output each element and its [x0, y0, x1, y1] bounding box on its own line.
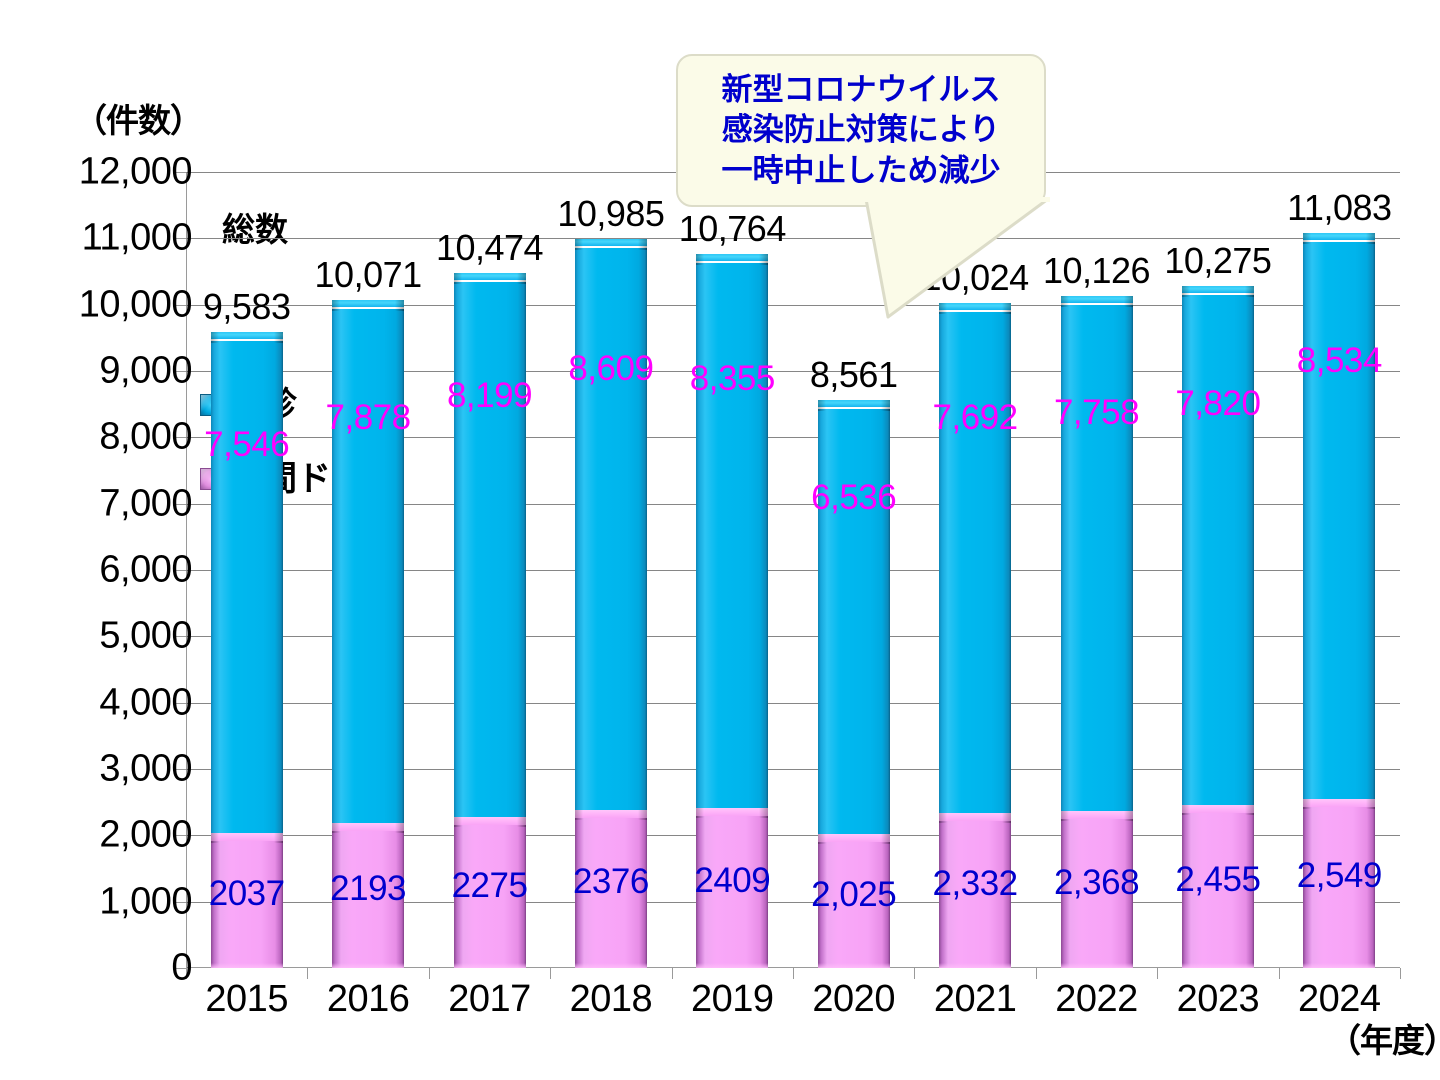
y-axis-tick-label: 1,000	[99, 880, 192, 923]
bar-total-label: 10,126	[1043, 250, 1150, 292]
covid-annotation-line-2: 感染防止対策により	[722, 111, 1000, 149]
bar-cap-shade	[454, 817, 526, 827]
x-tick-mark	[1400, 968, 1401, 979]
bar-dock-label: 2376	[573, 862, 649, 902]
bar-total-label: 10,474	[436, 227, 543, 269]
bar-foot	[818, 963, 890, 968]
x-tick-mark	[429, 968, 430, 979]
bar-kenshin-label: 7,820	[1175, 384, 1260, 424]
bar-segment-kenshin[interactable]	[1182, 286, 1254, 805]
bar-segment-kenshin[interactable]	[818, 400, 890, 834]
y-axis-tick-label: 9,000	[99, 350, 192, 393]
x-tick-mark	[307, 968, 308, 979]
bar-cap-shade	[1303, 233, 1375, 244]
bar-dock-label: 2409	[694, 861, 770, 901]
bar-kenshin-label: 8,609	[568, 349, 653, 389]
y-axis-tick-label: 4,000	[99, 681, 192, 724]
bar-foot	[1061, 963, 1133, 968]
bar-foot	[1182, 963, 1254, 968]
bar-segment-kenshin[interactable]	[696, 254, 768, 808]
bar-cap-shade	[1182, 286, 1254, 297]
gridline	[186, 238, 1400, 239]
bar-dock-label: 2,332	[933, 864, 1018, 904]
bar-foot	[939, 963, 1011, 968]
bar-dock-label: 2275	[452, 866, 528, 906]
bar-cap-shade	[575, 239, 647, 250]
x-axis-tick-label: 2022	[1055, 978, 1138, 1021]
bar-kenshin-label: 8,199	[447, 376, 532, 416]
bar-cap-shade	[696, 808, 768, 818]
bar-kenshin-label: 7,546	[204, 425, 289, 465]
bar-kenshin-label: 8,534	[1297, 341, 1382, 381]
bar-segment-kenshin[interactable]	[332, 300, 404, 823]
bar-kenshin-label: 7,878	[326, 398, 411, 438]
bar-segment-kenshin[interactable]	[211, 332, 283, 833]
x-axis-tick-label: 2020	[812, 978, 895, 1021]
bar-cap-shade	[211, 833, 283, 843]
x-axis-tick-label: 2017	[448, 978, 531, 1021]
y-axis-tick-label: 8,000	[99, 416, 192, 459]
bar-kenshin-label: 7,692	[933, 398, 1018, 438]
covid-annotation-box[interactable]: 新型コロナウイルス 感染防止対策により 一時中止しため減少	[676, 54, 1046, 207]
x-axis-tick-label: 2015	[205, 978, 288, 1021]
bar-dock-label: 2,025	[811, 875, 896, 915]
x-tick-mark	[672, 968, 673, 979]
bar-total-label: 10,275	[1164, 240, 1271, 282]
covid-annotation-line-3: 一時中止しため減少	[722, 152, 1001, 190]
bar-foot	[211, 963, 283, 968]
x-tick-mark	[1036, 968, 1037, 979]
bar-foot	[332, 963, 404, 968]
y-axis-tick-label: 7,000	[99, 482, 192, 525]
bar-cap-shade	[332, 300, 404, 311]
bar-foot	[1303, 963, 1375, 968]
y-axis-unit-label: （件数）	[74, 94, 202, 142]
bar-dock-label: 2,455	[1175, 860, 1260, 900]
x-tick-mark	[1279, 968, 1280, 979]
bar-kenshin-label: 8,355	[690, 359, 775, 399]
bar-cap-shade	[939, 813, 1011, 823]
bar-cap-shade	[696, 254, 768, 265]
bar-cap-shade	[1303, 799, 1375, 809]
bar-segment-kenshin[interactable]	[1061, 296, 1133, 811]
bar-cap-shade	[818, 834, 890, 844]
x-axis-tick-label: 2021	[934, 978, 1017, 1021]
bar-cap-shade	[1182, 805, 1254, 815]
bar-kenshin-label: 7,758	[1054, 393, 1139, 433]
bar-cap-shade	[575, 810, 647, 820]
x-tick-mark	[914, 968, 915, 979]
x-axis-tick-label: 2018	[570, 978, 653, 1021]
bar-total-label: 11,083	[1287, 187, 1391, 229]
x-tick-mark	[550, 968, 551, 979]
bar-cap-shade	[1061, 296, 1133, 307]
chart-root: （件数） （年度） 総数 健診人間ドック 01,0002,0003,0004,0…	[0, 0, 1440, 1080]
y-axis-tick-label: 10,000	[79, 283, 192, 326]
y-axis-tick-label: 3,000	[99, 748, 192, 791]
bar-dock-label: 2,368	[1054, 863, 1139, 903]
y-axis-tick-label: 2,000	[99, 814, 192, 857]
bar-total-label: 10,071	[315, 254, 422, 296]
y-axis-tick-label: 12,000	[79, 151, 192, 194]
bar-cap-shade	[332, 823, 404, 833]
y-axis-tick-label: 6,000	[99, 549, 192, 592]
bar-cap-shade	[1061, 811, 1133, 821]
bar-foot	[696, 963, 768, 968]
x-axis-tick-label: 2023	[1177, 978, 1260, 1021]
bar-segment-kenshin[interactable]	[575, 239, 647, 810]
bar-cap-shade	[939, 303, 1011, 314]
bar-segment-kenshin[interactable]	[1303, 233, 1375, 799]
bar-cap-shade	[211, 332, 283, 343]
y-axis-tick-label: 11,000	[82, 217, 192, 260]
bar-kenshin-label: 6,536	[811, 478, 896, 518]
bar-dock-label: 2037	[209, 874, 285, 914]
bar-foot	[575, 963, 647, 968]
bar-segment-kenshin[interactable]	[939, 303, 1011, 813]
x-axis-unit-label: （年度）	[1328, 1014, 1440, 1062]
x-axis-tick-label: 2016	[327, 978, 410, 1021]
bar-dock-label: 2,549	[1297, 856, 1382, 896]
bar-foot	[454, 963, 526, 968]
y-axis-tick-label: 0	[171, 947, 192, 990]
bar-dock-label: 2193	[330, 869, 406, 909]
bar-cap-shade	[454, 273, 526, 284]
y-axis-tick-label: 5,000	[99, 615, 192, 658]
x-axis-tick-label: 2024	[1298, 978, 1381, 1021]
x-tick-mark	[1157, 968, 1158, 979]
bar-segment-kenshin[interactable]	[454, 273, 526, 817]
bar-cap-shade	[818, 400, 890, 411]
bar-total-label: 10,024	[922, 257, 1029, 299]
x-tick-mark	[793, 968, 794, 979]
x-axis-tick-label: 2019	[691, 978, 774, 1021]
bar-total-label: 9,583	[203, 286, 291, 328]
bar-total-label: 8,561	[810, 354, 898, 396]
covid-annotation-line-1: 新型コロナウイルス	[722, 71, 1001, 109]
bar-total-label: 10,764	[679, 208, 786, 250]
bar-total-label: 10,985	[557, 193, 664, 235]
